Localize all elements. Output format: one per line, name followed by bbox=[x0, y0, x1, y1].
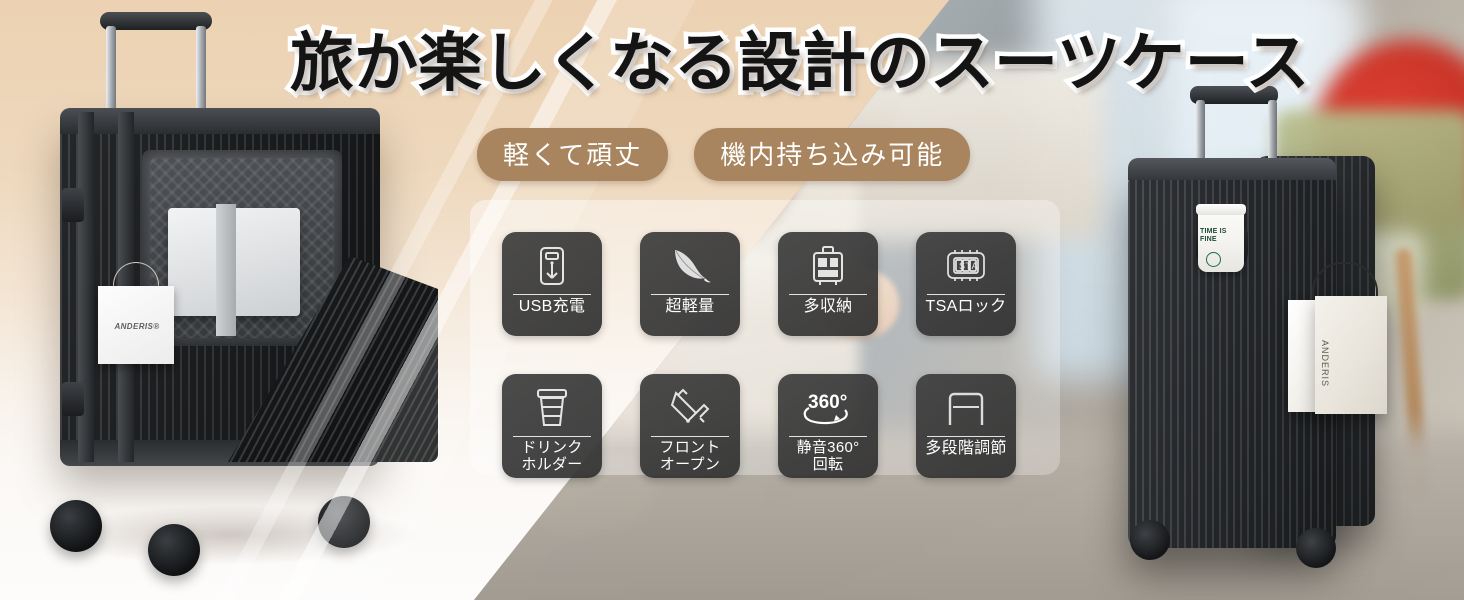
svg-text:A: A bbox=[972, 261, 978, 271]
rotation-360-icon: 360° bbox=[798, 382, 858, 434]
tile-divider bbox=[789, 436, 867, 437]
tile-divider bbox=[927, 436, 1005, 437]
feature-tile-tsa-lock[interactable]: S T A TSAロック bbox=[916, 232, 1016, 336]
feature-tile-usb-charging[interactable]: USB充電 bbox=[502, 232, 602, 336]
feather-icon bbox=[667, 240, 713, 292]
coffee-cup-logo bbox=[1206, 252, 1221, 267]
tsa-lock-icon: S T A bbox=[939, 240, 993, 292]
feature-label: 超軽量 bbox=[642, 298, 738, 316]
left-suitcase-wheel-1 bbox=[50, 500, 102, 552]
left-suitcase-handle-rod-left bbox=[106, 26, 116, 116]
cup-icon bbox=[532, 382, 572, 434]
brand-tag-label: ANDERIS® bbox=[106, 322, 168, 331]
coffee-cup-text: TIME ISFINE bbox=[1200, 228, 1242, 244]
left-suitcase-latch-2 bbox=[62, 382, 84, 416]
badge-lightweight-durable: 軽くて頑丈 bbox=[477, 128, 668, 181]
tile-divider bbox=[513, 436, 591, 437]
feature-label: 多収納 bbox=[780, 298, 876, 316]
tile-divider bbox=[513, 294, 591, 295]
feature-tile-drink-holder[interactable]: ドリンクホルダー bbox=[502, 374, 602, 478]
left-suitcase-wheel-2 bbox=[148, 524, 200, 576]
front-open-icon bbox=[667, 382, 713, 434]
feature-tile-360-rotation[interactable]: 360° 静音360°回転 bbox=[778, 374, 878, 478]
tile-divider bbox=[651, 294, 729, 295]
right-suitcase-wheel-2 bbox=[1296, 528, 1336, 568]
shopping-bag-brand: ANDERIS bbox=[1320, 340, 1330, 387]
svg-text:T: T bbox=[966, 261, 972, 271]
page-title: 旅か楽しくなる設計のスーツケース bbox=[290, 30, 1170, 98]
right-suitcase-wheel-1 bbox=[1130, 520, 1170, 560]
feature-label: 多段階調節 bbox=[918, 440, 1014, 458]
tile-divider bbox=[927, 294, 1005, 295]
feature-tile-front-open[interactable]: フロントオープン bbox=[640, 374, 740, 478]
feature-label: 静音360°回転 bbox=[780, 440, 876, 474]
product-banner: TIME ISFINE ANDERIS ANDERIS® 旅か楽しくなる設計のス… bbox=[0, 0, 1464, 600]
left-suitcase-wheel-3 bbox=[318, 496, 370, 548]
svg-text:S: S bbox=[959, 261, 965, 271]
right-suitcase-top bbox=[1128, 158, 1336, 180]
tile-divider bbox=[651, 436, 729, 437]
left-suitcase-latch-1 bbox=[62, 188, 84, 222]
feature-tile-multi-stage-handle[interactable]: 多段階調節 bbox=[916, 374, 1016, 478]
feature-grid: USB充電 超軽量 bbox=[502, 232, 1016, 478]
telescopic-handle-icon bbox=[941, 382, 991, 434]
badge-row: 軽くて頑丈 機内持ち込み可能 bbox=[477, 128, 970, 181]
rotation-360-text: 360° bbox=[808, 392, 847, 413]
feature-label: USB充電 bbox=[504, 298, 600, 316]
coffee-cup-lid bbox=[1196, 204, 1246, 215]
left-suitcase-top-rim bbox=[60, 108, 380, 134]
laptop-strap bbox=[216, 204, 236, 336]
feature-tile-ultra-light[interactable]: 超軽量 bbox=[640, 232, 740, 336]
tile-divider bbox=[789, 294, 867, 295]
feature-label: TSAロック bbox=[918, 298, 1014, 316]
badge-carry-on: 機内持ち込み可能 bbox=[694, 128, 970, 181]
feature-label: ドリンクホルダー bbox=[504, 440, 600, 474]
usb-icon bbox=[535, 240, 569, 292]
suitcase-storage-icon bbox=[809, 240, 847, 292]
feature-tile-storage[interactable]: 多収納 bbox=[778, 232, 878, 336]
feature-label: フロントオープン bbox=[642, 440, 738, 474]
left-suitcase-handle-rod-right bbox=[196, 26, 206, 116]
